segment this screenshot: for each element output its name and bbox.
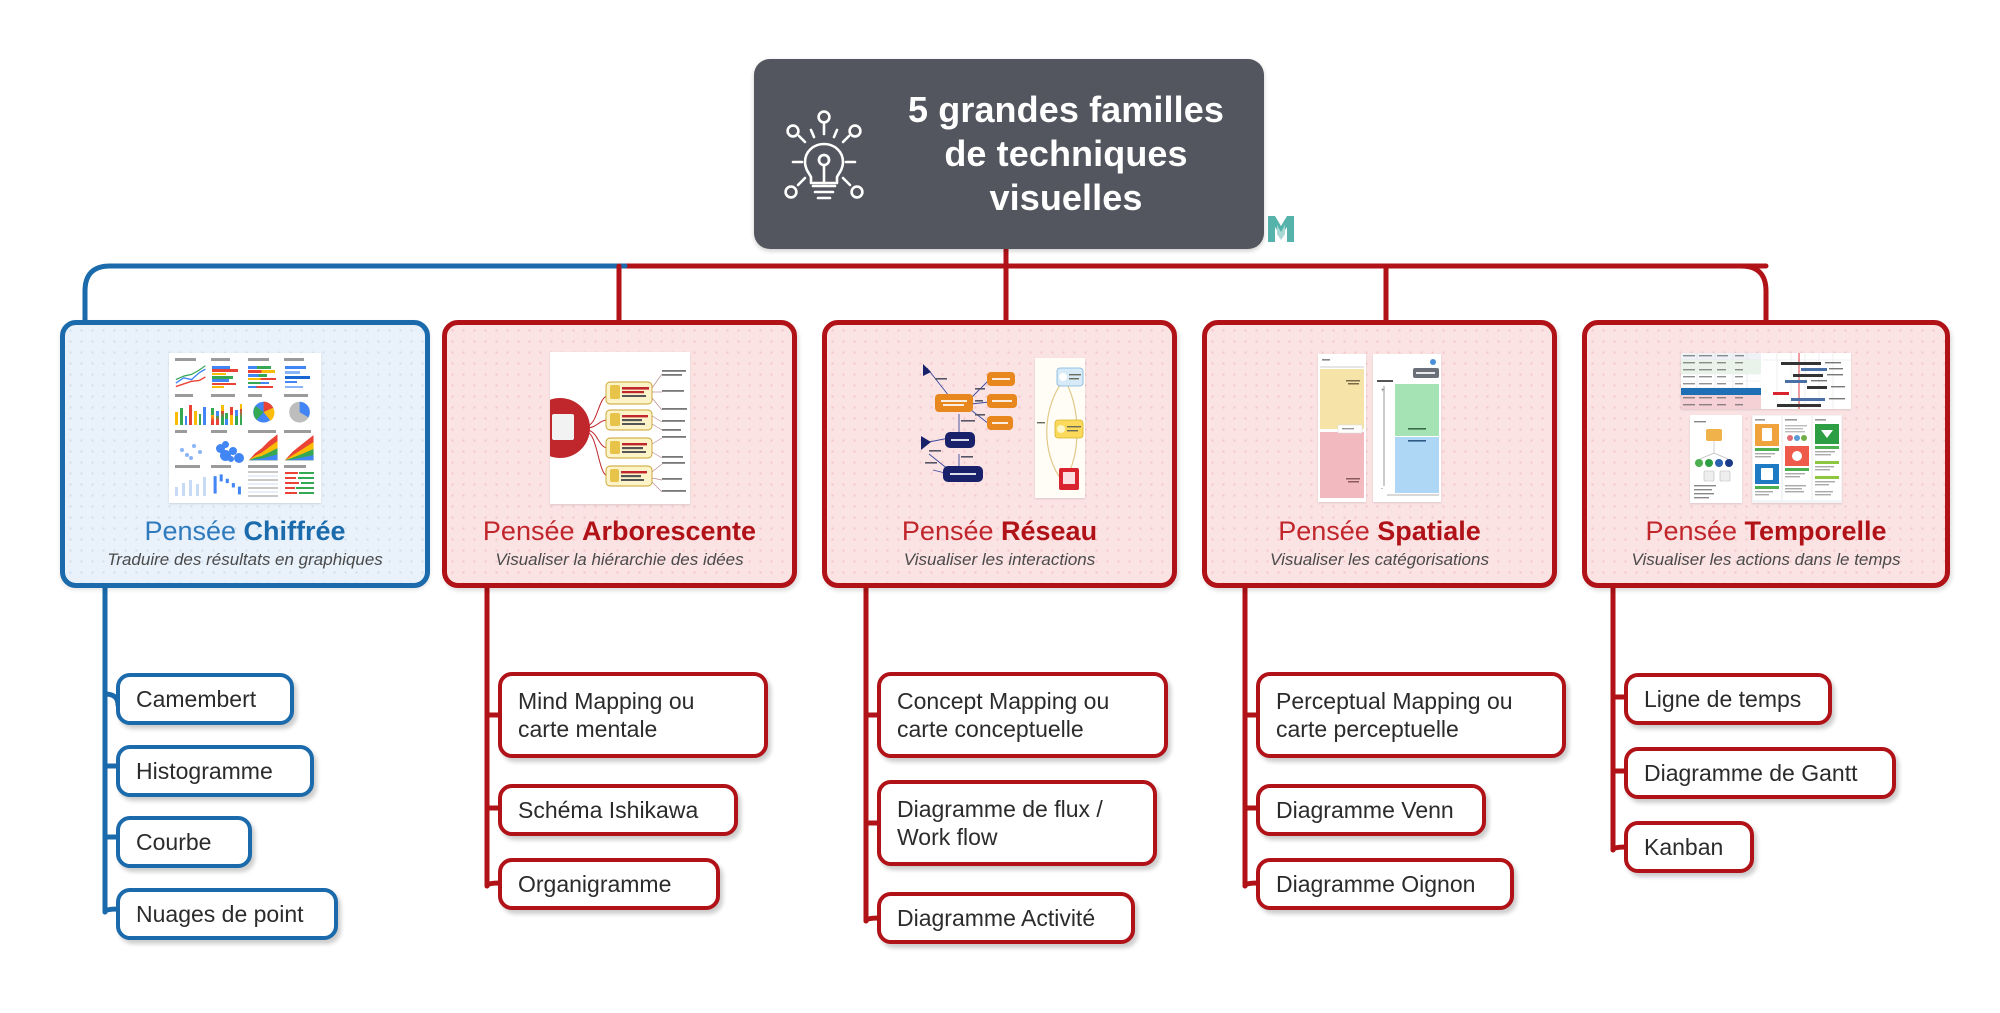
leaf-node-camembert[interactable]: Camembert (116, 673, 294, 725)
branch-title-prefix: Pensée (483, 516, 582, 546)
leaf-node-histogramme[interactable]: Histogramme (116, 745, 314, 797)
leaf-node-nuages-de-point[interactable]: Nuages de point (116, 888, 338, 940)
leaf-label: Schéma Ishikawa (518, 796, 698, 824)
branch-subtitle-arborescente: Visualiser la hiérarchie des idées (495, 550, 743, 570)
leaf-node-concept-mapping[interactable]: Concept Mapping ou carte conceptuelle (877, 672, 1168, 758)
leaf-label: Diagramme Venn (1276, 796, 1454, 824)
leaf-node-schema-ishikawa[interactable]: Schéma Ishikawa (498, 784, 738, 836)
branch-title-prefix: Pensée (1278, 516, 1377, 546)
branch-card-temporelle[interactable]: Pensée Temporelle Visualiser les actions… (1582, 320, 1950, 588)
branch-title-strong: Spatiale (1377, 516, 1481, 546)
leaf-label: Diagramme Oignon (1276, 870, 1475, 898)
central-node[interactable]: 5 grandes familles de techniques visuell… (754, 59, 1264, 249)
branch-card-reseau[interactable]: Pensée Réseau Visualiser les interaction… (822, 320, 1177, 588)
branch-title-strong: Chiffrée (244, 516, 346, 546)
chart-gallery-thumbnail (65, 341, 425, 517)
leaf-node-organigramme[interactable]: Organigramme (498, 858, 720, 910)
branch-card-spatiale[interactable]: + - Pensée Spatiale Visualiser les catég… (1202, 320, 1557, 588)
concept-map-thumbnail (827, 341, 1172, 517)
branch-title-prefix: Pensée (144, 516, 243, 546)
branch-title-strong: Arborescente (582, 516, 756, 546)
branch-title-spatiale: Pensée Spatiale (1278, 517, 1481, 547)
leaf-node-diagramme-oignon[interactable]: Diagramme Oignon (1256, 858, 1514, 910)
leaf-node-kanban[interactable]: Kanban (1624, 821, 1754, 873)
leaf-node-perceptual-mapping[interactable]: Perceptual Mapping ou carte perceptuelle (1256, 672, 1566, 758)
mindmeister-m-logo (1264, 212, 1298, 246)
leaf-label: Diagramme Activité (897, 904, 1095, 932)
branch-title-arborescente: Pensée Arborescente (483, 517, 756, 547)
leaf-node-diagramme-venn[interactable]: Diagramme Venn (1256, 784, 1486, 836)
leaf-node-courbe[interactable]: Courbe (116, 816, 252, 868)
branch-title-strong: Réseau (1001, 516, 1097, 546)
branch-subtitle-chiffree: Traduire des résultats en graphiques (107, 550, 383, 570)
leaf-node-diagramme-activite[interactable]: Diagramme Activité (877, 892, 1135, 944)
leaf-label: Concept Mapping ou carte conceptuelle (897, 687, 1148, 744)
leaf-label: Diagramme de flux / Work flow (897, 795, 1137, 852)
wire-bus-blue (85, 266, 625, 291)
lightbulb-idea-icon (754, 100, 894, 208)
leaf-label: Diagramme de Gantt (1644, 759, 1857, 787)
central-title: 5 grandes familles de techniques visuell… (894, 88, 1264, 220)
matrix-quadrant-thumbnail: + - (1207, 341, 1552, 517)
leaf-label: Histogramme (136, 757, 273, 785)
mindmap-canvas: 5 grandes familles de techniques visuell… (0, 0, 2000, 1013)
branch-title-prefix: Pensée (1645, 516, 1744, 546)
branch-card-chiffree[interactable]: Pensée Chiffrée Traduire des résultats e… (60, 320, 430, 588)
wire-drop-temporelle (1741, 266, 1766, 291)
leaf-node-mind-mapping[interactable]: Mind Mapping ou carte mentale (498, 672, 768, 758)
branch-subtitle-reseau: Visualiser les interactions (904, 550, 1096, 570)
svg-text:-: - (1381, 486, 1383, 492)
branch-title-prefix: Pensée (902, 516, 1001, 546)
branch-card-arborescente[interactable]: Pensée Arborescente Visualiser la hiérar… (442, 320, 797, 588)
branch-title-chiffree: Pensée Chiffrée (144, 517, 345, 547)
leaf-label: Organigramme (518, 870, 671, 898)
leaf-label: Ligne de temps (1644, 685, 1801, 713)
leaf-label: Perceptual Mapping ou carte perceptuelle (1276, 687, 1546, 744)
branch-subtitle-spatiale: Visualiser les catégorisations (1270, 550, 1489, 570)
branch-title-temporelle: Pensée Temporelle (1645, 517, 1886, 547)
leaf-label: Camembert (136, 685, 256, 713)
mind-map-thumbnail (447, 341, 792, 517)
svg-text:+: + (1381, 388, 1385, 394)
leaf-node-diagramme-gantt[interactable]: Diagramme de Gantt (1624, 747, 1896, 799)
leaf-label: Mind Mapping ou carte mentale (518, 687, 748, 744)
leaf-node-ligne-de-temps[interactable]: Ligne de temps (1624, 673, 1832, 725)
leaf-label: Nuages de point (136, 900, 304, 928)
gantt-kanban-thumbnail (1587, 341, 1945, 517)
leaf-label: Kanban (1644, 833, 1723, 861)
branch-subtitle-temporelle: Visualiser les actions dans le temps (1632, 550, 1901, 570)
leaf-label: Courbe (136, 828, 211, 856)
branch-title-strong: Temporelle (1745, 516, 1887, 546)
leaf-node-diagramme-flux[interactable]: Diagramme de flux / Work flow (877, 780, 1157, 866)
branch-title-reseau: Pensée Réseau (902, 517, 1097, 547)
